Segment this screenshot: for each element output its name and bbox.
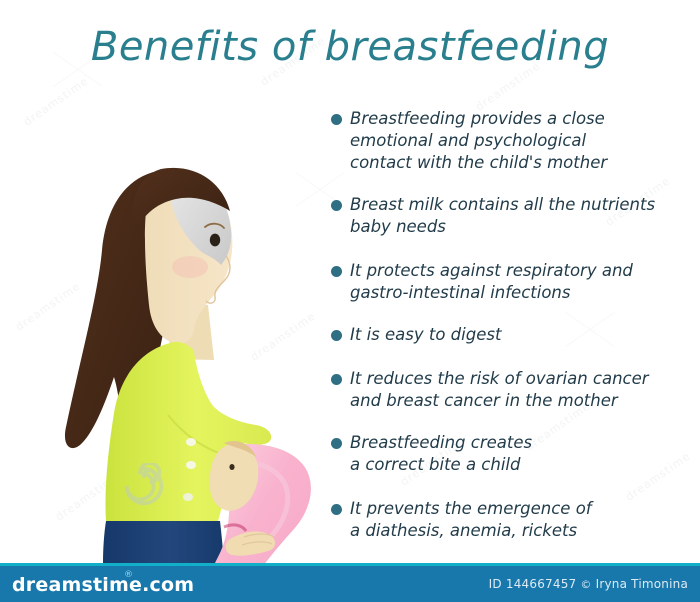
author-name: Iryna Timonina bbox=[596, 577, 688, 591]
benefit-text: It reduces the risk of ovarian cancer an… bbox=[350, 368, 649, 412]
benefit-text: Breastfeeding provides a close emotional… bbox=[350, 108, 607, 174]
benefit-text: Breast milk contains all the nutrients b… bbox=[350, 194, 655, 238]
benefit-text: It protects against respiratory and gast… bbox=[350, 260, 633, 304]
button bbox=[186, 438, 196, 446]
eye bbox=[210, 234, 220, 247]
mother-and-baby-illustration bbox=[18, 145, 318, 565]
bullet-icon bbox=[331, 266, 342, 277]
bullet-icon bbox=[331, 438, 342, 449]
list-item: It protects against respiratory and gast… bbox=[331, 260, 696, 304]
list-item: Breastfeeding creates a correct bite a c… bbox=[331, 432, 696, 476]
bullet-icon bbox=[331, 330, 342, 341]
dreamstime-logo[interactable]: dreamstime.com bbox=[12, 574, 194, 596]
list-item: Breast milk contains all the nutrients b… bbox=[331, 194, 696, 238]
bullet-icon bbox=[331, 374, 342, 385]
list-item: It prevents the emergence of a diathesis… bbox=[331, 498, 696, 542]
registered-mark-icon: ® bbox=[124, 570, 133, 580]
baby-eye bbox=[229, 464, 234, 470]
watermark-text: dreamstime bbox=[21, 74, 91, 128]
benefits-list: Breastfeeding provides a close emotional… bbox=[331, 108, 696, 542]
cheek-blush bbox=[172, 256, 208, 278]
image-id: ID 144667457 bbox=[489, 577, 577, 591]
benefit-text: It prevents the emergence of a diathesis… bbox=[350, 498, 592, 542]
bullet-icon bbox=[331, 200, 342, 211]
bullet-icon bbox=[331, 504, 342, 515]
image-credit: ID 144667457 © Iryna Timonina bbox=[489, 577, 688, 591]
button bbox=[183, 493, 193, 501]
page-title: Benefits of breastfeeding bbox=[0, 24, 700, 70]
copyright-icon: © bbox=[580, 578, 591, 591]
list-item: It reduces the risk of ovarian cancer an… bbox=[331, 368, 696, 412]
list-item: It is easy to digest bbox=[331, 324, 696, 346]
button bbox=[186, 461, 196, 469]
list-item: Breastfeeding provides a close emotional… bbox=[331, 108, 696, 174]
infographic-canvas: dreamstime dreamstime dreamstime dreamst… bbox=[0, 0, 700, 602]
bullet-icon bbox=[331, 114, 342, 125]
stock-watermark-footer: dreamstime.com ® ID 144667457 © Iryna Ti… bbox=[0, 563, 700, 602]
benefit-text: Breastfeeding creates a correct bite a c… bbox=[350, 432, 532, 476]
benefit-text: It is easy to digest bbox=[350, 324, 501, 346]
skirt bbox=[103, 521, 225, 565]
